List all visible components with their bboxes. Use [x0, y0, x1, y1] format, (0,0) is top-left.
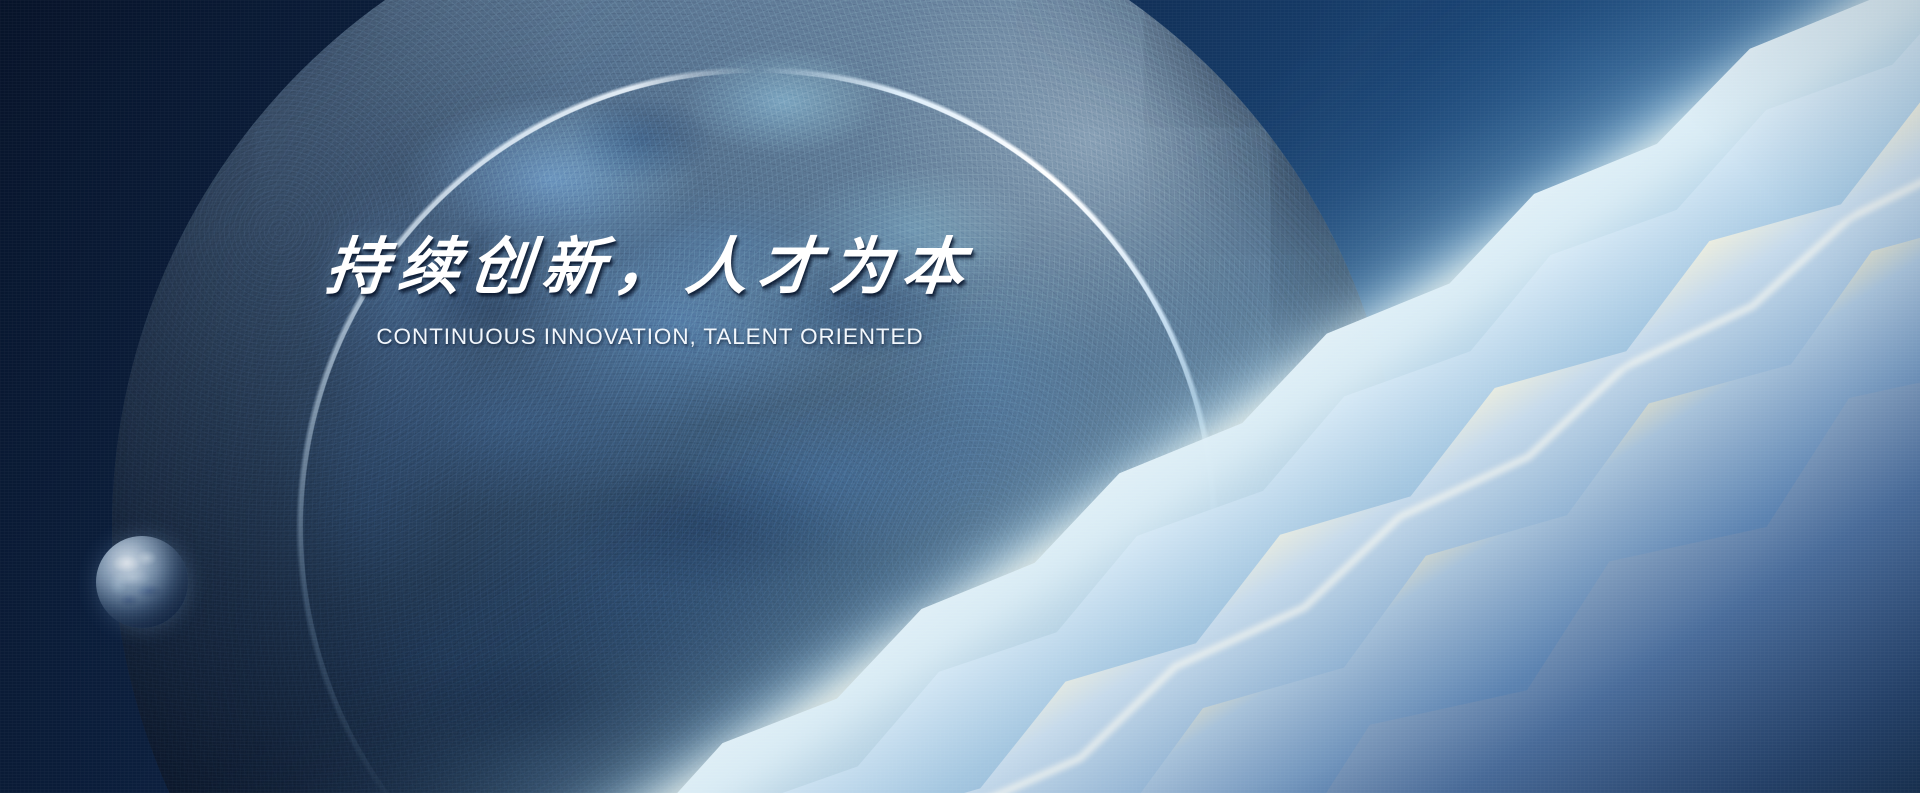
banner-copy: 持续创新，人才为本 CONTINUOUS INNOVATION, TALENT …: [0, 236, 1300, 350]
moon-surface-texture: [96, 536, 188, 628]
large-planet: [112, 0, 1402, 793]
planet-rim-light: [110, 0, 1404, 793]
page-title: 持续创新，人才为本: [0, 236, 1303, 302]
hero-banner: 持续创新，人才为本 CONTINUOUS INNOVATION, TALENT …: [0, 0, 1920, 793]
small-moon: [96, 536, 188, 628]
page-subtitle: CONTINUOUS INNOVATION, TALENT ORIENTED: [0, 324, 1300, 350]
